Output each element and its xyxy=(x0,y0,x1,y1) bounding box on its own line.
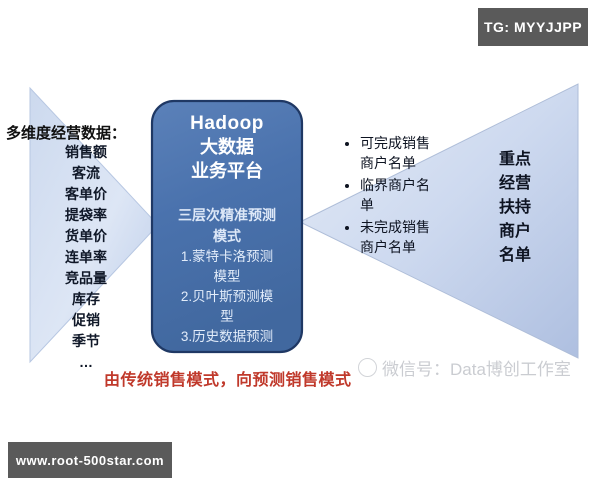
platform-title-line2: 业务平台 xyxy=(152,159,302,183)
model-line: 模型 xyxy=(152,267,302,287)
list-item: 客单价 xyxy=(32,184,140,205)
platform-subtitle-line1: 三层次精准预测 xyxy=(152,205,302,226)
platform-brand-name: Hadoop xyxy=(152,113,302,135)
wechat-watermark: 微信号：Data博创工作室 xyxy=(358,355,571,380)
list-item: 竞品量 xyxy=(32,268,140,289)
model-line: 1.蒙特卡洛预测 xyxy=(152,247,302,267)
output-line: 名单 xyxy=(480,244,550,268)
model-line: 3.历史数据预测 xyxy=(152,327,302,347)
platform-model-list: 1.蒙特卡洛预测 模型 2.贝叶斯预测模 型 3.历史数据预测 xyxy=(152,247,302,347)
output-bullet-list: 可完成销售商户名单 临界商户名单 未完成销售商户名单 xyxy=(344,133,436,259)
output-line: 扶持 xyxy=(480,196,550,220)
platform-title-line1: 大数据 xyxy=(152,135,302,159)
diagram-canvas: 多维度经营数据： 销售额 客流 客单价 提袋率 货单价 连单率 竞品量 库存 促… xyxy=(0,0,600,480)
list-item: 可完成销售商户名单 xyxy=(360,133,436,173)
bullet-list: 可完成销售商户名单 临界商户名单 未完成销售商户名单 xyxy=(344,133,436,257)
bottom-caption: 由传统销售模式，向预测销售模式 xyxy=(104,366,352,390)
platform-subtitle-line2: 模式 xyxy=(152,226,302,247)
list-item: 销售额 xyxy=(32,142,140,163)
list-item: 连单率 xyxy=(32,247,140,268)
model-line: 型 xyxy=(152,307,302,327)
list-item: 促销 xyxy=(32,310,140,331)
wechat-watermark-text: 微信号：Data博创工作室 xyxy=(382,355,571,380)
left-panel-heading: 多维度经营数据： xyxy=(6,122,126,143)
left-panel-item-list: 销售额 客流 客单价 提袋率 货单价 连单率 竞品量 库存 促销 季节 … xyxy=(32,142,140,373)
output-line: 商户 xyxy=(480,220,550,244)
output-line: 重点 xyxy=(480,148,550,172)
model-line: 2.贝叶斯预测模 xyxy=(152,287,302,307)
list-item: 客流 xyxy=(32,163,140,184)
platform-subtitle-group: 三层次精准预测 模式 xyxy=(152,205,302,247)
output-line: 经营 xyxy=(480,172,550,196)
final-output-label: 重点 经营 扶持 商户 名单 xyxy=(480,148,550,268)
list-item: 库存 xyxy=(32,289,140,310)
list-item: 季节 xyxy=(32,331,140,352)
list-item: 临界商户名单 xyxy=(360,175,436,215)
site-url-badge: www.root-500star.com xyxy=(8,442,172,478)
wechat-logo-icon xyxy=(358,358,377,377)
tg-handle-badge: TG: MYYJJPP xyxy=(478,8,588,46)
list-item: 货单价 xyxy=(32,226,140,247)
list-item: 提袋率 xyxy=(32,205,140,226)
list-item: 未完成销售商户名单 xyxy=(360,217,436,257)
platform-title-group: Hadoop 大数据 业务平台 xyxy=(152,113,302,183)
